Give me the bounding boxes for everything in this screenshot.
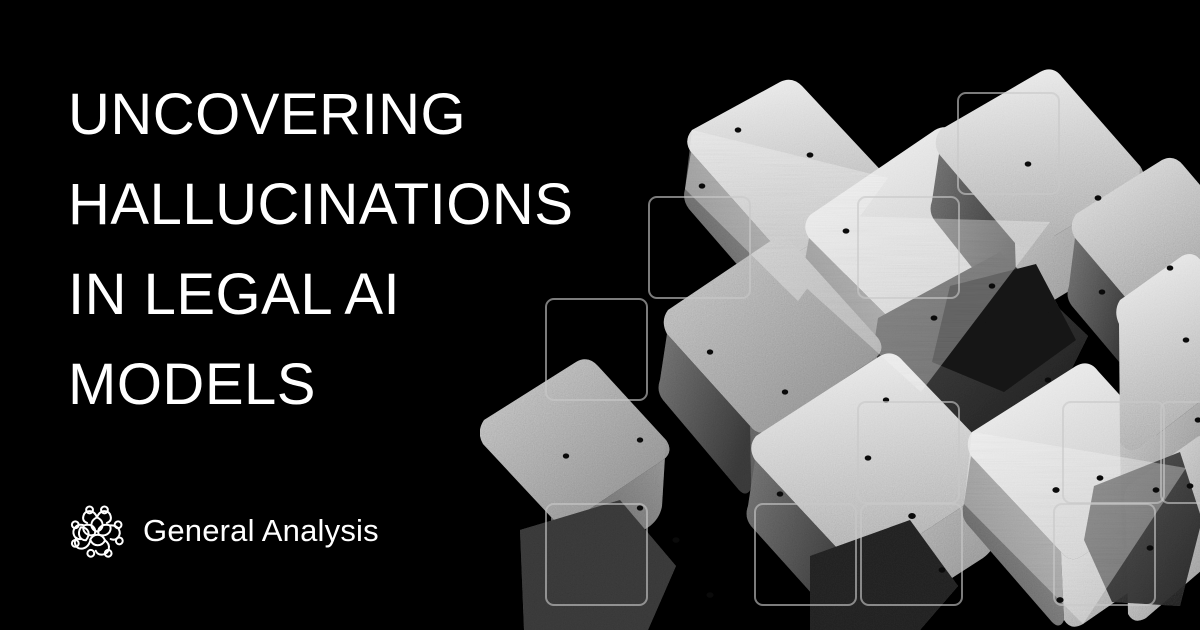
brand-lockup: General Analysis xyxy=(66,500,379,562)
concrete-photo xyxy=(480,0,1200,630)
page-title: UNCOVERING HALLUCINATIONS IN LEGAL AI MO… xyxy=(68,70,538,430)
concrete-blocks-artwork xyxy=(480,0,1200,630)
network-brain-logo-icon xyxy=(66,500,128,562)
headline-line-2: HALLUCINATIONS xyxy=(68,160,538,250)
brand-name: General Analysis xyxy=(143,513,379,549)
promo-card: UNCOVERING HALLUCINATIONS IN LEGAL AI MO… xyxy=(0,0,1200,630)
headline-line-1: UNCOVERING xyxy=(68,70,538,160)
text-column: UNCOVERING HALLUCINATIONS IN LEGAL AI MO… xyxy=(0,0,560,630)
headline-line-4: MODELS xyxy=(68,340,538,430)
headline-line-3: IN LEGAL AI xyxy=(68,250,538,340)
